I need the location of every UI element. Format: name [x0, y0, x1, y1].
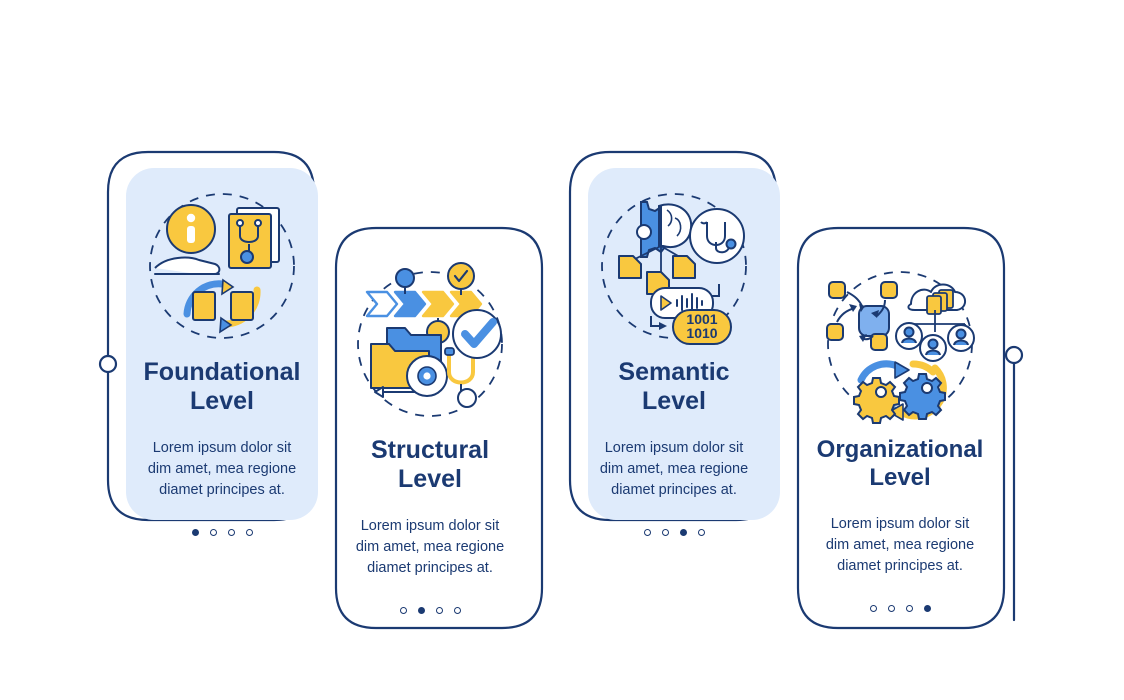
title-primary: INFO — [124, 52, 250, 110]
card-title-line2: Level — [190, 387, 254, 415]
card-foundational[interactable]: Foundational Level Lorem ipsum dolor sit… — [126, 168, 318, 520]
step-dot-4[interactable] — [454, 607, 461, 614]
start-node-circle — [100, 356, 116, 372]
card-title-line1: Semantic — [618, 358, 729, 386]
step-dot-3[interactable] — [906, 605, 913, 612]
path-end-node — [1007, 348, 1022, 363]
card-organizational[interactable]: Organizational Level Lorem ipsum dolor s… — [804, 246, 996, 598]
card-semantic[interactable]: 1001 1010 Semantic Level Lorem ipsum dol… — [578, 168, 770, 520]
step-dot-1[interactable] — [400, 607, 407, 614]
step-dot-3[interactable] — [228, 529, 235, 536]
step-dot-4[interactable] — [246, 529, 253, 536]
card-description: Lorem ipsum dolor sit dim amet, mea regi… — [817, 514, 982, 577]
step-indicator[interactable] — [400, 607, 461, 614]
step-dot-4[interactable] — [924, 605, 931, 612]
step-dot-1[interactable] — [870, 605, 877, 612]
infographic-canvas: INFOGRAPHICS — [0, 0, 1124, 700]
health-information-exchange-icon — [132, 184, 312, 354]
title-secondary: GRAPHICS — [250, 52, 528, 110]
card-title: Semantic Level — [586, 358, 763, 416]
step-dot-3[interactable] — [436, 607, 443, 614]
workflow-structure-icon — [340, 262, 520, 432]
page-title: INFOGRAPHICS — [124, 55, 529, 130]
step-indicator[interactable] — [192, 529, 253, 536]
step-dot-1[interactable] — [644, 529, 651, 536]
step-dot-2[interactable] — [888, 605, 895, 612]
semantic-data-icon: 1001 1010 — [584, 184, 764, 354]
card-title-line2: Level — [642, 387, 706, 415]
card-title: Foundational Level — [134, 358, 311, 416]
card-title: Organizational Level — [812, 436, 989, 492]
card-description: Lorem ipsum dolor sit dim amet, mea regi… — [347, 516, 512, 579]
organizational-network-icon — [810, 262, 990, 432]
binary-line-2: 1010 — [686, 325, 717, 341]
card-title: Structural Level — [342, 436, 519, 494]
path-start-node — [101, 357, 116, 372]
card-description: Lorem ipsum dolor sit dim amet, mea regi… — [591, 438, 756, 501]
step-dot-1[interactable] — [192, 529, 199, 536]
step-dot-3[interactable] — [680, 529, 687, 536]
step-dot-2[interactable] — [418, 607, 425, 614]
title-underline-rule — [124, 121, 270, 130]
card-description: Lorem ipsum dolor sit dim amet, mea regi… — [139, 438, 304, 501]
card-title-line1: Organizational — [817, 436, 984, 463]
card-title-line2: Level — [869, 464, 930, 491]
card-title-line1: Structural — [371, 436, 489, 464]
card-title-line1: Foundational — [144, 358, 301, 386]
step-dot-2[interactable] — [210, 529, 217, 536]
end-node-circle — [1006, 347, 1022, 363]
card-title-line2: Level — [398, 465, 462, 493]
step-dot-4[interactable] — [698, 529, 705, 536]
card-structural[interactable]: Structural Level Lorem ipsum dolor sit d… — [334, 246, 526, 598]
step-indicator[interactable] — [870, 605, 931, 612]
step-dot-2[interactable] — [662, 529, 669, 536]
step-indicator[interactable] — [644, 529, 705, 536]
